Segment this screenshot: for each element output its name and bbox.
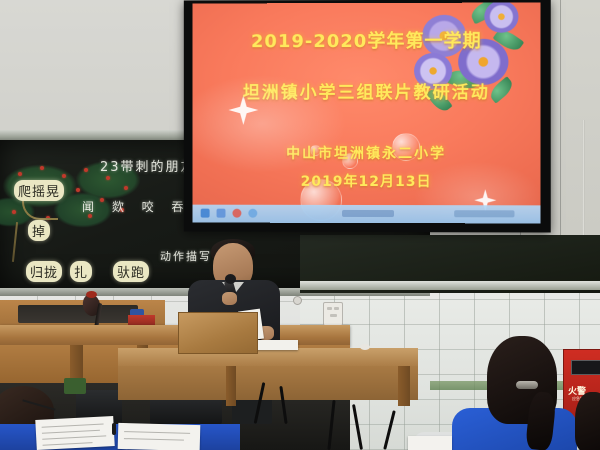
under-desk-equipment — [232, 398, 272, 424]
edge-icon[interactable] — [248, 209, 257, 218]
blackboard-lesson-title: 23带刺的朋友 — [100, 156, 196, 175]
wall-conduit — [582, 120, 585, 240]
blackboard-highlight-word: 掉 — [28, 220, 50, 241]
teacher-desk-opening — [18, 305, 138, 323]
fire-alarm-display — [571, 360, 600, 375]
presenter-hand — [222, 292, 237, 305]
blackboard-highlight-word: 扎 — [70, 261, 92, 282]
media-icon[interactable] — [232, 209, 241, 218]
paper-sheet — [408, 436, 452, 450]
slide-flower-decoration — [396, 3, 541, 148]
small-desk-item — [360, 344, 370, 350]
open-notebook — [35, 416, 114, 450]
taskbar-window-button[interactable] — [342, 210, 394, 217]
wall-hook — [293, 296, 302, 305]
windows-taskbar[interactable] — [193, 205, 541, 224]
podium-desk-front — [118, 366, 418, 400]
blackboard-highlight-word: 爬摇晃 — [14, 180, 64, 201]
classroom-photo: 23带刺的朋友 闻 欻 咬 吞 舔 动作描写 爬摇晃 掉 归拢 扎 驮跑 201… — [0, 0, 600, 450]
slide-line-3: 中山市坦洲镇永二小学 — [193, 143, 541, 163]
desk-leg — [226, 366, 236, 406]
folder-icon[interactable] — [217, 209, 226, 218]
projection-screen: 2019-2020学年第一学期 坦洲镇小学三组联片教研活动 中山市坦洲镇永二小学… — [193, 3, 541, 224]
blackboard-right-frame — [300, 281, 600, 290]
podium-desk-top — [118, 348, 418, 368]
blackboard-highlight-word: 驮跑 — [113, 261, 149, 282]
start-icon[interactable] — [201, 209, 210, 218]
lectern — [178, 312, 258, 354]
pen — [112, 423, 116, 435]
slide-line-4: 2019年12月13日 — [193, 171, 541, 192]
slide-line-2: 坦洲镇小学三组联片教研活动 — [193, 78, 541, 103]
blackboard-annotation: 动作描写 — [160, 248, 212, 264]
slide-line-1: 2019-2020学年第一学期 — [193, 27, 541, 54]
open-notebook — [118, 423, 201, 450]
microphone-top — [86, 291, 97, 298]
hair-clip — [516, 381, 538, 389]
desk-leg — [398, 366, 410, 406]
microphone-capsule — [225, 274, 236, 284]
wall-socket[interactable] — [323, 302, 343, 326]
blackboard-highlight-word: 归拢 — [26, 261, 62, 282]
system-tray[interactable] — [454, 210, 514, 217]
green-indicator — [64, 378, 86, 394]
student-hair-right — [575, 392, 600, 450]
